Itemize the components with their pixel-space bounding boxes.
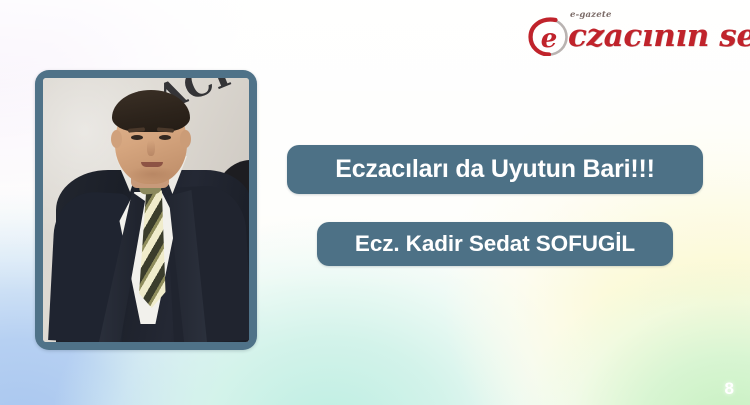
author-photo-frame: ACI İŞ AC: [35, 70, 257, 350]
article-author-banner: Ecz. Kadir Sedat SOFUGİL: [317, 222, 673, 266]
page-number: 8: [725, 379, 734, 399]
subject-chin-shadow: [127, 166, 177, 182]
subject-eye-right: [159, 135, 171, 140]
svg-text:e: e: [541, 24, 558, 54]
author-photo: ACI İŞ AC: [43, 78, 249, 342]
subject-ear-left: [111, 130, 122, 148]
slide-canvas: e e-gazete czacının sesi ACI İŞ AC: [0, 0, 750, 405]
subject-ear-right: [180, 130, 191, 148]
subject-eye-left: [131, 135, 143, 140]
eczacinin-sesi-logo[interactable]: e e-gazete czacının sesi: [524, 6, 738, 58]
logo-wordmark-text: czacının sesi: [568, 18, 750, 54]
logo-e-mark-icon: e: [528, 16, 570, 56]
subject-nose: [147, 140, 155, 156]
article-title-banner: Eczacıları da Uyutun Bari!!!: [287, 145, 703, 194]
